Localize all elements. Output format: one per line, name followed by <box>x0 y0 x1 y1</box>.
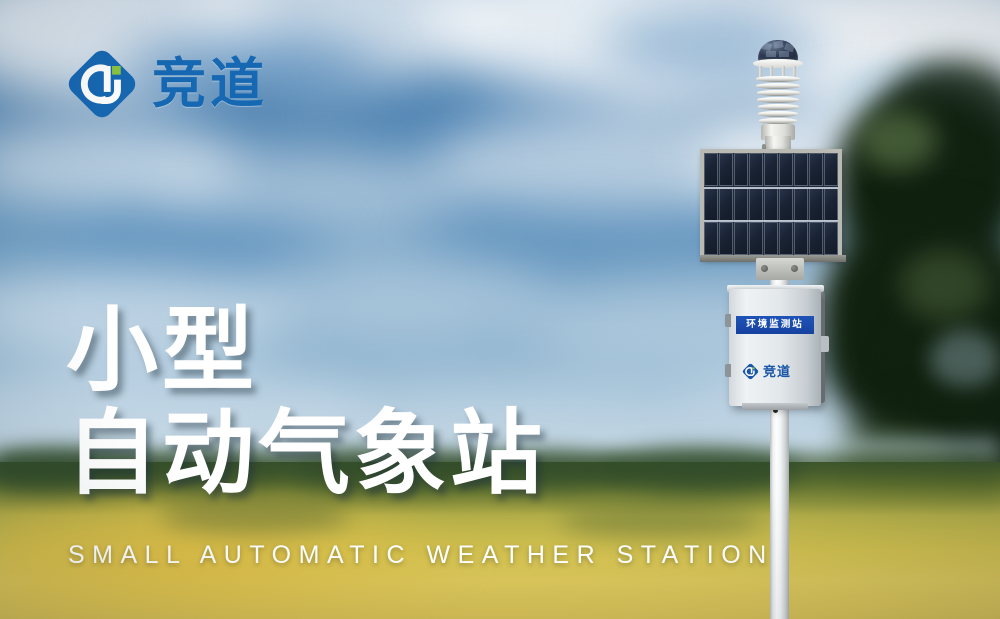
brand-logo[interactable]: 竞道 <box>66 48 268 120</box>
headline-subtitle: SMALL AUTOMATIC WEATHER STATION <box>68 541 774 570</box>
enclosure-brand-name: 竞道 <box>763 365 791 378</box>
jingdao-diamond-logo-icon <box>742 363 759 380</box>
jingdao-diamond-logo-icon <box>66 48 138 120</box>
solar-panel <box>700 149 842 259</box>
headline-block: 小型 自动气象站 <box>66 300 546 506</box>
enclosure-banner: 环境监测站 <box>736 316 814 334</box>
solar-panel-bracket <box>756 258 804 280</box>
enclosure-banner-text: 环境监测站 <box>746 320 804 330</box>
enclosure-right-latch <box>821 336 829 352</box>
enclosure-left-latch <box>725 314 731 327</box>
banner-canvas: 环境监测站 竞道 竞道 <box>0 0 1000 619</box>
enclosure-brand-logo: 竞道 <box>742 361 810 381</box>
ultrasonic-weather-sensor <box>745 40 811 152</box>
brand-name: 竞道 <box>152 57 268 111</box>
headline-line-2: 自动气象站 <box>66 403 546 506</box>
solar-panel-cells <box>704 153 838 255</box>
radiation-shield-louvers <box>756 76 800 126</box>
enclosure-left-latch-lower <box>725 364 731 377</box>
enclosure-box: 环境监测站 竞道 <box>729 289 821 406</box>
enclosure-bottom-tab <box>742 403 808 410</box>
headline-line-1: 小型 <box>66 300 546 403</box>
